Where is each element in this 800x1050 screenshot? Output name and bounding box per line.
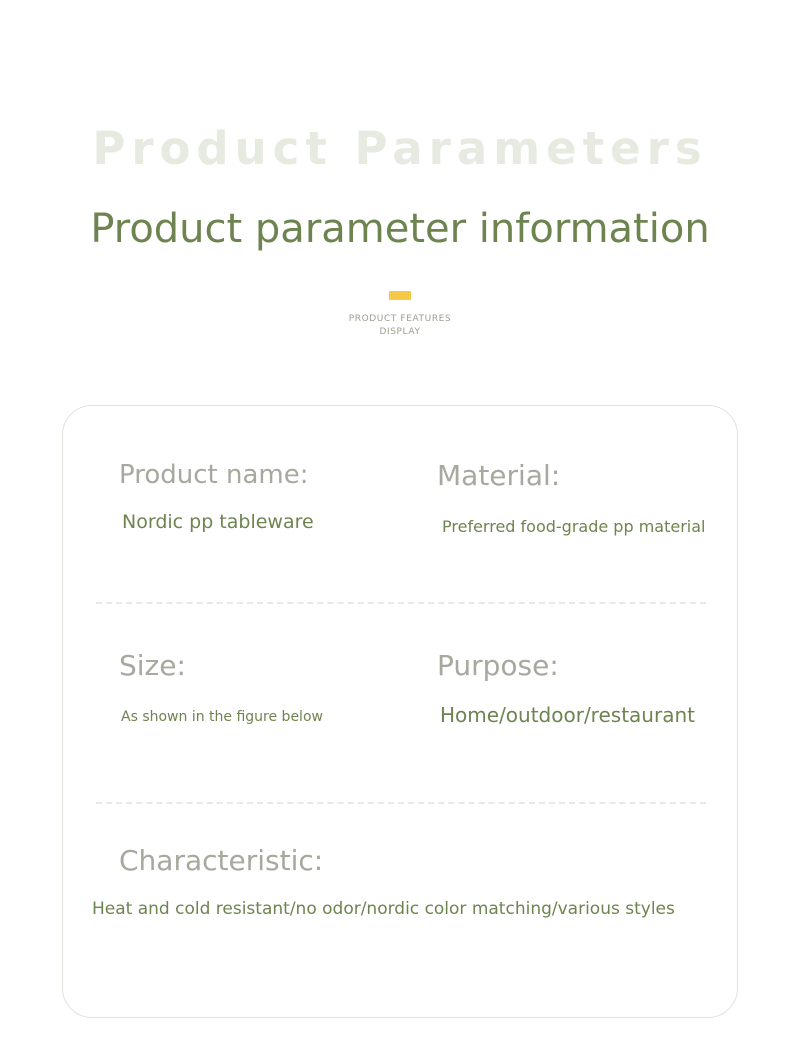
parameter-field-material: Material: Preferred food-grade pp materi… [437,461,705,536]
parameter-field-product-name: Product name: Nordic pp tableware [119,461,314,533]
field-value: Heat and cold resistant/no odor/nordic c… [92,899,675,919]
page-header: Product Parameters Product parameter inf… [0,0,800,400]
parameter-row: Characteristic: Heat and cold resistant/… [63,846,737,966]
parameter-row: Size: As shown in the figure below Purpo… [63,651,737,786]
field-value: Nordic pp tableware [122,511,314,534]
field-label: Size: [119,651,323,682]
page-title: Product parameter information [0,205,800,253]
eyebrow-subtitle: PRODUCT FEATURES DISPLAY [0,313,800,339]
ghost-title: Product Parameters [0,126,800,171]
parameter-field-size: Size: As shown in the figure below [119,651,323,726]
eyebrow-line-1: PRODUCT FEATURES [0,313,800,326]
parameter-field-characteristic: Characteristic: Heat and cold resistant/… [119,846,675,919]
row-divider [96,602,706,604]
field-label: Characteristic: [119,846,675,877]
parameters-card: Product name: Nordic pp tableware Materi… [62,405,738,1018]
field-value: Preferred food-grade pp material [442,517,705,536]
row-divider [96,802,706,804]
field-label: Material: [437,461,705,492]
accent-bar [389,291,411,300]
field-value: As shown in the figure below [121,709,323,726]
field-value: Home/outdoor/restaurant [440,703,695,727]
parameters-rows: Product name: Nordic pp tableware Materi… [63,406,737,1017]
field-label: Purpose: [437,651,695,682]
field-label: Product name: [119,461,314,490]
parameter-row: Product name: Nordic pp tableware Materi… [63,461,737,596]
eyebrow-line-2: DISPLAY [0,326,800,339]
parameter-field-purpose: Purpose: Home/outdoor/restaurant [437,651,695,727]
